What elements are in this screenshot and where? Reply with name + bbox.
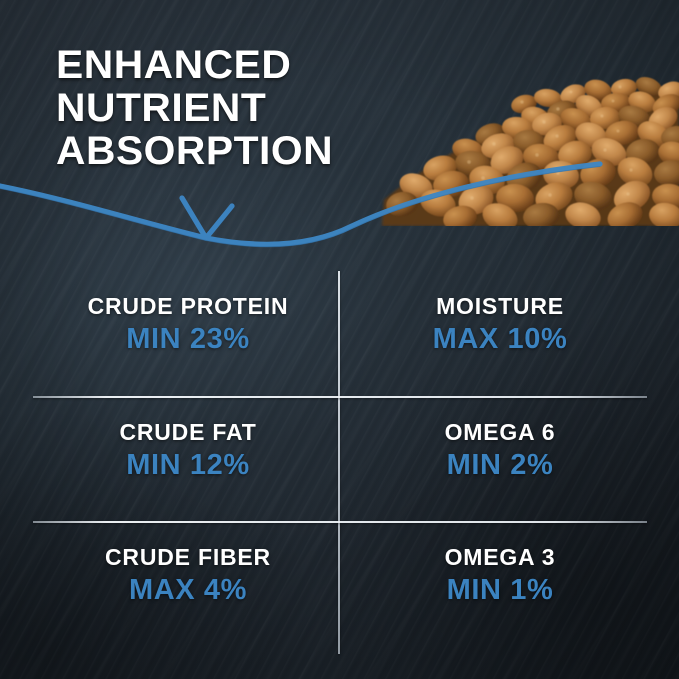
nutrient-value: MAX 10%	[350, 322, 650, 356]
nutrient-cell-crude-fiber: CRUDE FIBER MAX 4%	[38, 543, 338, 607]
page-title: ENHANCED NUTRIENT ABSORPTION	[56, 44, 333, 173]
nutrient-value: MIN 12%	[38, 448, 338, 482]
headline-line-2: NUTRIENT	[56, 87, 333, 130]
nutrient-label: OMEGA 6	[350, 418, 650, 446]
product-infographic: ENHANCED NUTRIENT ABSORPTION CRUDE PROTE…	[0, 0, 679, 679]
grid-horizontal-divider-2	[33, 521, 647, 523]
nutrient-value: MIN 2%	[350, 448, 650, 482]
nutrient-cell-crude-protein: CRUDE PROTEIN MIN 23%	[38, 292, 338, 356]
nutrient-cell-moisture: MOISTURE MAX 10%	[350, 292, 650, 356]
nutrient-cell-omega-6: OMEGA 6 MIN 2%	[350, 418, 650, 482]
grid-vertical-divider	[338, 271, 340, 654]
grid-horizontal-divider-1	[33, 396, 647, 398]
nutrient-label: OMEGA 3	[350, 543, 650, 571]
nutrient-cell-crude-fat: CRUDE FAT MIN 12%	[38, 418, 338, 482]
headline-line-3: ABSORPTION	[56, 130, 333, 173]
nutrient-value: MAX 4%	[38, 573, 338, 607]
nutrient-label: MOISTURE	[350, 292, 650, 320]
nutrient-label: CRUDE PROTEIN	[38, 292, 338, 320]
nutrient-label: CRUDE FAT	[38, 418, 338, 446]
headline-line-1: ENHANCED	[56, 44, 333, 87]
nutrient-value: MIN 1%	[350, 573, 650, 607]
nutrient-label: CRUDE FIBER	[38, 543, 338, 571]
nutrient-value: MIN 23%	[38, 322, 338, 356]
nutrient-cell-omega-3: OMEGA 3 MIN 1%	[350, 543, 650, 607]
nutrient-grid: CRUDE PROTEIN MIN 23% MOISTURE MAX 10% C…	[0, 262, 679, 662]
